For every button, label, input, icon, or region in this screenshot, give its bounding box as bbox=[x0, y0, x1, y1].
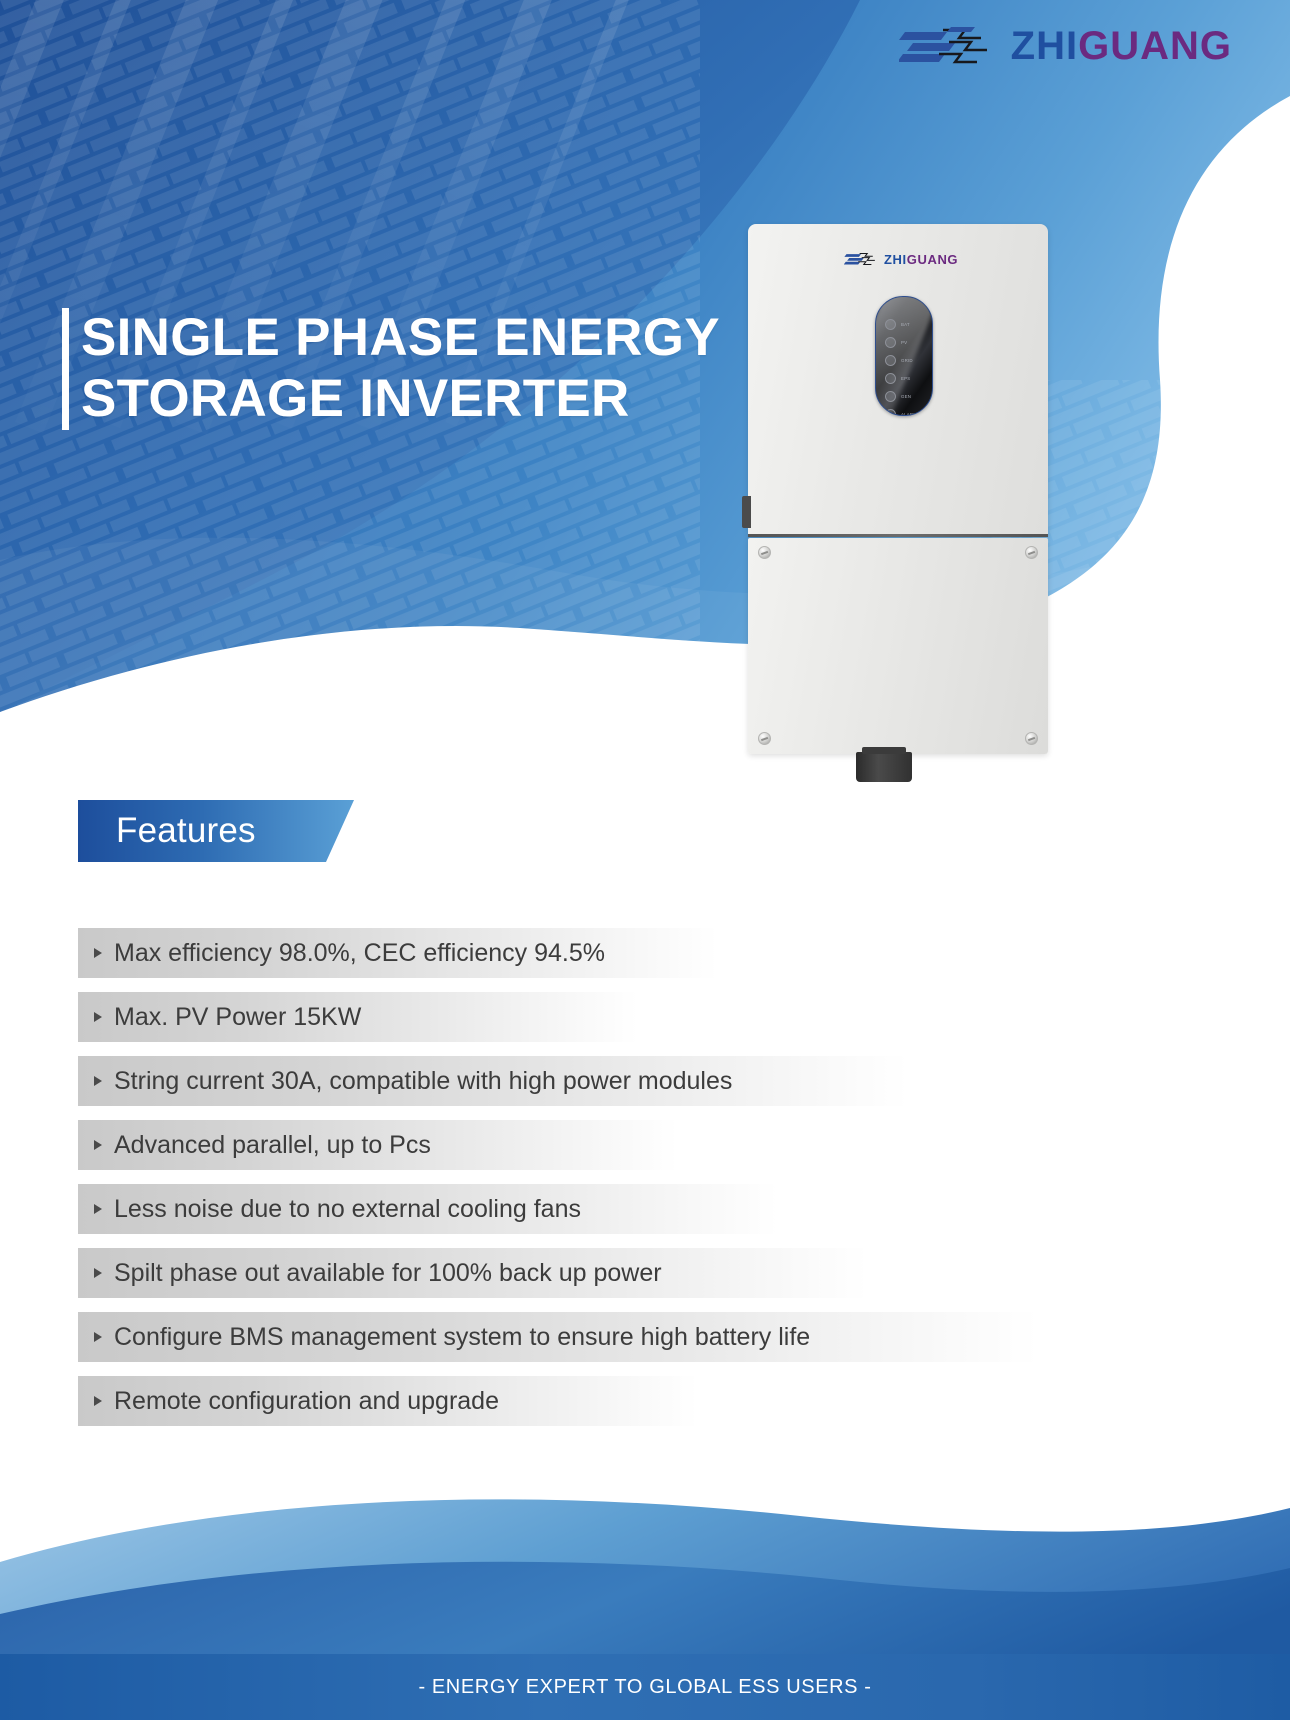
product-cable-gland bbox=[856, 752, 912, 782]
product-brand-logo: ZHIGUANG bbox=[844, 250, 958, 268]
feature-text: Less noise due to no external cooling fa… bbox=[114, 1197, 581, 1222]
battery-icon bbox=[885, 319, 896, 330]
bullet-triangle-icon bbox=[94, 1012, 102, 1022]
feature-text: Advanced parallel, up to Pcs bbox=[114, 1133, 431, 1158]
list-item: Max. PV Power 15KW bbox=[78, 992, 638, 1042]
title-accent-bar bbox=[62, 308, 69, 430]
brochure-page: ZHIGUANG SINGLE PHASE ENERGY STORAGE INV… bbox=[0, 0, 1290, 1720]
features-list: Max efficiency 98.0%, CEC efficiency 94.… bbox=[78, 928, 1213, 1440]
list-item: Configure BMS management system to ensur… bbox=[78, 1312, 1038, 1362]
bullet-triangle-icon bbox=[94, 1396, 102, 1406]
title-line-2: STORAGE INVERTER bbox=[81, 369, 720, 430]
stacked-bars-logo-icon bbox=[899, 20, 995, 72]
brand-wordmark: ZHIGUANG bbox=[1011, 26, 1232, 66]
page-title: SINGLE PHASE ENERGY STORAGE INVERTER bbox=[62, 308, 720, 430]
product-upper-unit: ZHIGUANG BAT PV GRID bbox=[748, 224, 1048, 536]
list-item: Max efficiency 98.0%, CEC efficiency 94.… bbox=[78, 928, 718, 978]
screw-icon bbox=[758, 546, 771, 559]
feature-text: Max efficiency 98.0%, CEC efficiency 94.… bbox=[114, 941, 605, 966]
screw-icon bbox=[1025, 546, 1038, 559]
product-side-bracket bbox=[742, 496, 751, 528]
stacked-bars-logo-icon bbox=[844, 250, 878, 268]
list-item: String current 30A, compatible with high… bbox=[78, 1056, 908, 1106]
product-image: ZHIGUANG BAT PV GRID bbox=[748, 224, 1048, 769]
footer-tagline: - ENERGY EXPERT TO GLOBAL ESS USERS - bbox=[418, 1676, 871, 1699]
product-status-panel: BAT PV GRID EPS bbox=[875, 296, 933, 416]
panel-indicator-pv: PV bbox=[885, 337, 917, 348]
panel-label-gen: GEN bbox=[901, 394, 911, 399]
feature-text: Configure BMS management system to ensur… bbox=[114, 1325, 810, 1350]
panel-indicator-bat: BAT bbox=[885, 319, 917, 330]
feature-text: Max. PV Power 15KW bbox=[114, 1005, 361, 1030]
screw-icon bbox=[758, 732, 771, 745]
product-lower-unit bbox=[748, 538, 1048, 754]
bullet-triangle-icon bbox=[94, 1268, 102, 1278]
list-item: Spilt phase out available for 100% back … bbox=[78, 1248, 868, 1298]
panel-label-pv: PV bbox=[901, 340, 907, 345]
bullet-triangle-icon bbox=[94, 1332, 102, 1342]
title-line-1: SINGLE PHASE ENERGY bbox=[81, 308, 720, 369]
generator-icon bbox=[885, 391, 896, 402]
list-item: Less noise due to no external cooling fa… bbox=[78, 1184, 778, 1234]
bullet-triangle-icon bbox=[94, 1204, 102, 1214]
panel-label-grid: GRID bbox=[901, 358, 913, 363]
bullet-triangle-icon bbox=[94, 1140, 102, 1150]
pv-panel-icon bbox=[885, 337, 896, 348]
panel-indicator-grid: GRID bbox=[885, 355, 917, 366]
features-heading-label: Features bbox=[116, 800, 256, 862]
panel-indicator-eps: EPS bbox=[885, 373, 917, 384]
panel-label-eps: EPS bbox=[901, 376, 910, 381]
brand-name-part1: ZHI bbox=[1011, 24, 1078, 68]
product-brand-part1: ZHI bbox=[884, 252, 907, 267]
grid-icon bbox=[885, 355, 896, 366]
screw-icon bbox=[1025, 732, 1038, 745]
eps-icon bbox=[885, 373, 896, 384]
bullet-triangle-icon bbox=[94, 1076, 102, 1086]
brand-name-part2: GUANG bbox=[1078, 24, 1232, 68]
footer-bar: - ENERGY EXPERT TO GLOBAL ESS USERS - bbox=[0, 1654, 1290, 1720]
panel-label-alarm: ALARM bbox=[901, 412, 917, 416]
feature-text: Spilt phase out available for 100% back … bbox=[114, 1261, 662, 1286]
features-heading-banner: Features bbox=[78, 800, 354, 862]
list-item: Remote configuration and upgrade bbox=[78, 1376, 698, 1426]
feature-text: Remote configuration and upgrade bbox=[114, 1389, 499, 1414]
alarm-icon bbox=[885, 409, 896, 416]
product-brand-part2: GUANG bbox=[907, 252, 958, 267]
panel-indicator-alarm: ALARM bbox=[885, 409, 917, 416]
panel-label-bat: BAT bbox=[901, 322, 910, 327]
header-brand-logo: ZHIGUANG bbox=[899, 20, 1232, 72]
list-item: Advanced parallel, up to Pcs bbox=[78, 1120, 678, 1170]
bullet-triangle-icon bbox=[94, 948, 102, 958]
title-text: SINGLE PHASE ENERGY STORAGE INVERTER bbox=[81, 308, 720, 430]
product-brand-wordmark: ZHIGUANG bbox=[884, 253, 958, 266]
product-seam bbox=[748, 534, 1048, 537]
panel-indicator-gen: GEN bbox=[885, 391, 917, 402]
panel-indicator-list: BAT PV GRID EPS bbox=[885, 319, 917, 416]
feature-text: String current 30A, compatible with high… bbox=[114, 1069, 732, 1094]
